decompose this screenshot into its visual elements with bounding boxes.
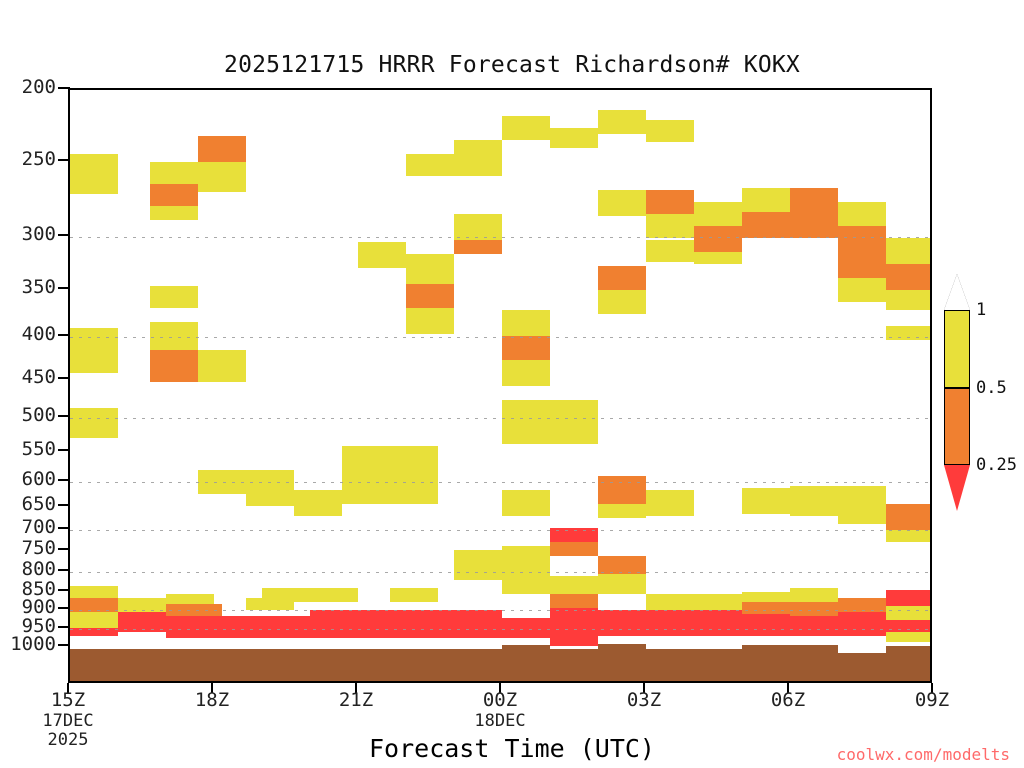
heatmap-cell [406,254,454,284]
heatmap-cell [358,242,406,268]
y-axis-tick-label: 700 [0,518,56,537]
heatmap-cell [70,628,118,636]
x-axis-tick-label: 18Z [167,690,257,712]
colorbar-segment [944,388,970,466]
heatmap-cell [150,162,198,184]
heatmap-cell [694,226,742,252]
heatmap-cell [598,290,646,314]
heatmap-cell [694,594,742,610]
x-axis-tick-label: 00Z18DEC [455,690,545,731]
heatmap-cells [70,90,930,681]
terrain-band [838,653,886,683]
y-axis-tick-label: 800 [0,560,56,579]
heatmap-cell [694,252,742,264]
heatmap-cell [70,408,118,438]
heatmap-cell [838,226,886,252]
x-axis-date-label: 17DEC [23,712,113,732]
heatmap-cell [294,490,342,516]
heatmap-cell [70,598,118,612]
terrain-band [550,649,598,683]
y-axis-tick [58,644,70,646]
y-axis-tick-label: 250 [0,150,56,169]
heatmap-cell [838,598,886,612]
heatmap-cell [454,140,502,164]
heatmap-cell [118,612,166,632]
y-axis-tick [58,479,70,481]
heatmap-cell [70,586,118,598]
y-axis-tick [58,87,70,89]
heatmap-cell [886,620,932,632]
credit-watermark: coolwx.com/modelts [837,745,1010,764]
y-axis-tick [58,527,70,529]
heatmap-cell [550,594,598,608]
terrain-band [886,646,932,683]
heatmap-cell [886,632,932,642]
x-axis-tick-label: 15Z17DEC2025 [23,690,113,751]
heatmap-cell [502,546,550,580]
heatmap-cell [166,604,222,616]
heatmap-cell [550,128,598,148]
y-axis-tick [58,234,70,236]
y-axis-tick-label: 200 [0,78,56,97]
y-axis-tick-label: 400 [0,325,56,344]
heatmap-cell [646,594,694,610]
colorbar-cap-bottom [944,465,970,511]
y-axis-tick-label: 650 [0,495,56,514]
heatmap-cell [118,598,166,612]
colorbar-cap-top [944,274,970,310]
y-axis-tick [58,504,70,506]
terrain-band [502,645,550,683]
heatmap-cell [646,490,694,516]
heatmap-cell [598,190,646,216]
heatmap-cell [550,400,598,444]
x-axis-year-label: 2025 [23,731,113,751]
y-axis-tick [58,589,70,591]
chart-canvas: 2025121715 HRRR Forecast Richardson# KOK… [0,0,1024,768]
heatmap-cell [406,308,454,334]
heatmap-cell [742,212,838,238]
heatmap-cell [886,238,932,264]
heatmap-cell [502,400,550,444]
heatmap-cell [198,470,246,494]
terrain-band [742,645,838,683]
heatmap-cell [598,110,646,134]
heatmap-cell [790,188,838,212]
heatmap-cell [838,252,886,278]
y-axis-tick [58,377,70,379]
heatmap-cell [742,602,790,614]
heatmap-cell [742,592,790,602]
y-axis-tick [58,287,70,289]
heatmap-cell [310,588,358,602]
heatmap-cell [742,488,790,514]
heatmap-cell [502,310,550,336]
heatmap-cell [406,154,454,176]
x-axis-date-label: 18DEC [455,712,545,732]
heatmap-cell [886,590,932,606]
heatmap-cell [502,490,550,516]
heatmap-cell [246,470,294,494]
heatmap-cell [502,360,550,386]
heatmap-cell [886,290,932,310]
heatmap-cell [150,322,198,350]
heatmap-cell [406,284,454,308]
heatmap-cell [550,528,598,542]
heatmap-cell [598,504,646,518]
y-axis-tick [58,626,70,628]
x-axis-tick-label: 06Z [743,690,833,712]
y-axis-tick-label: 750 [0,539,56,558]
heatmap-cell [150,206,198,220]
heatmap-cell [502,618,598,638]
heatmap-cell [598,476,646,504]
x-axis-tick-label: 03Z [599,690,689,712]
colorbar[interactable]: 10.50.25 [944,310,970,465]
y-axis-tick-label: 350 [0,278,56,297]
heatmap-cell [70,154,118,194]
y-axis-tick [58,415,70,417]
heatmap-cell [886,326,932,340]
heatmap-cell [790,602,838,616]
heatmap-cell [790,588,838,602]
y-axis-tick [58,159,70,161]
heatmap-cell [454,214,502,240]
heatmap-cell [150,184,198,206]
colorbar-tick-label: 0.25 [976,455,1017,475]
heatmap-cell [886,530,932,542]
heatmap-cell [262,588,310,602]
heatmap-cell [150,350,198,382]
heatmap-cell [198,162,246,192]
heatmap-cell [694,202,742,226]
heatmap-cell [310,610,502,636]
heatmap-cell [646,240,694,262]
colorbar-segment [944,310,970,388]
heatmap-cell [454,164,502,176]
heatmap-cell [598,266,646,290]
y-axis-tick [58,607,70,609]
terrain-band [598,644,646,683]
y-axis-tick-label: 600 [0,470,56,489]
y-axis-tick [58,569,70,571]
heatmap-cell [198,350,246,382]
y-axis-tick [58,548,70,550]
heatmap-cell [886,606,932,620]
x-axis-tick-label: 21Z [311,690,401,712]
heatmap-cell [646,120,694,142]
heatmap-cell [342,446,438,504]
heatmap-cell [838,278,886,302]
heatmap-cell [598,574,646,594]
y-axis-tick-label: 1000 [0,635,56,654]
heatmap-cell [886,264,932,290]
heatmap-cell [70,612,118,628]
heatmap-cell [886,504,932,530]
heatmap-cell [502,116,550,140]
heatmap-cell [550,542,598,556]
heatmap-cell [838,202,886,226]
heatmap-cell [598,556,646,574]
terrain-band [70,649,502,683]
heatmap-cell [246,494,294,506]
heatmap-cell [198,136,246,162]
heatmap-cell [646,214,694,238]
page-title: 2025121715 HRRR Forecast Richardson# KOK… [0,52,1024,78]
terrain-band [646,649,742,683]
heatmap-cell [70,328,118,373]
y-axis-tick-label: 550 [0,440,56,459]
y-axis-tick-label: 300 [0,225,56,244]
colorbar-tick-label: 0.5 [976,378,1007,398]
heatmap-cell [390,588,438,602]
y-axis-tick [58,449,70,451]
y-axis-tick [58,334,70,336]
heatmap-cell [454,240,502,254]
colorbar-tick-label: 1 [976,300,986,320]
x-axis-tick-label: 09Z [887,690,977,712]
heatmap-cell [502,336,550,360]
heatmap-cell [838,612,886,630]
heatmap-cell [742,188,790,212]
y-axis-tick-label: 500 [0,406,56,425]
heatmap-cell [150,286,198,308]
y-axis-tick-label: 450 [0,368,56,387]
heatmap-cell [646,190,694,214]
plot-area[interactable] [68,88,932,683]
